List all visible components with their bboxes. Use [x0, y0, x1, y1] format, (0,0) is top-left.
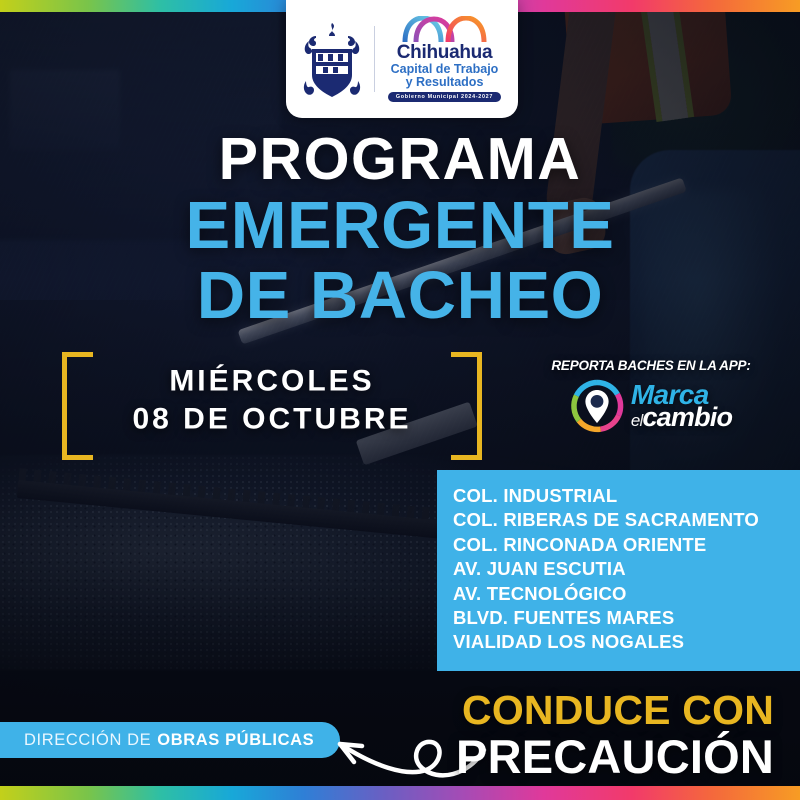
brand-city-name: Chihuahua	[397, 43, 492, 62]
chihuahua-arches-icon	[402, 16, 488, 42]
streets-panel: COL. INDUSTRIAL COL. RIBERAS DE SACRAMEN…	[437, 470, 800, 671]
brand-government-period: Gobierno Municipal 2024-2027	[388, 92, 501, 102]
cta-line-2: PRECAUCIÓN	[456, 733, 774, 781]
headline-line-2: EMERGENTE	[0, 191, 800, 261]
department-badge: DIRECCIÓN DE OBRAS PÚBLICAS	[0, 722, 340, 758]
app-name-cambio: elcambio	[631, 405, 732, 429]
logo-divider	[374, 26, 375, 92]
date-weekday: MIÉRCOLES	[88, 363, 456, 401]
location-pin-icon	[570, 379, 624, 433]
app-logo: Marca elcambio	[520, 379, 782, 433]
headline-line-3: DE BACHEO	[0, 261, 800, 331]
headline-line-1: PROGRAMA	[0, 130, 800, 189]
chihuahua-coat-of-arms-icon	[300, 19, 364, 99]
government-logo-card: Chihuahua Capital de Trabajo y Resultado…	[286, 0, 518, 118]
street-item: COL. RINCONADA ORIENTE	[453, 533, 800, 557]
app-promo-block: REPORTA BACHES EN LA APP: Marca elcambio	[520, 358, 782, 433]
cta-line-1: CONDUCE CON	[456, 690, 774, 731]
department-prefix: DIRECCIÓN DE	[24, 731, 151, 750]
city-brand: Chihuahua Capital de Trabajo y Resultado…	[385, 16, 505, 102]
app-name-el: el	[631, 411, 643, 430]
street-item: VIALIDAD LOS NOGALES	[453, 630, 800, 654]
brand-tagline-line2: y Resultados	[406, 76, 484, 89]
app-wordmark: Marca elcambio	[631, 382, 732, 429]
street-item: AV. TECNOLÓGICO	[453, 582, 800, 606]
bacheo-poster: Chihuahua Capital de Trabajo y Resultado…	[0, 0, 800, 800]
street-item: BLVD. FUENTES MARES	[453, 606, 800, 630]
street-item: COL. INDUSTRIAL	[453, 484, 800, 508]
brand-tagline-line1: Capital de Trabajo	[391, 63, 499, 76]
cta-block: CONDUCE CON PRECAUCIÓN	[456, 690, 774, 781]
date-text: MIÉRCOLES 08 DE OCTUBRE	[88, 363, 456, 440]
street-item: AV. JUAN ESCUTIA	[453, 557, 800, 581]
date-block: MIÉRCOLES 08 DE OCTUBRE	[62, 352, 482, 450]
app-promo-label: REPORTA BACHES EN LA APP:	[520, 358, 782, 373]
app-name-cambio-word: cambio	[642, 402, 732, 432]
headline-group: PROGRAMA EMERGENTE DE BACHEO	[0, 130, 800, 330]
department-name: OBRAS PÚBLICAS	[157, 731, 314, 750]
street-item: COL. RIBERAS DE SACRAMENTO	[453, 508, 800, 532]
date-day-month: 08 DE OCTUBRE	[88, 401, 456, 439]
